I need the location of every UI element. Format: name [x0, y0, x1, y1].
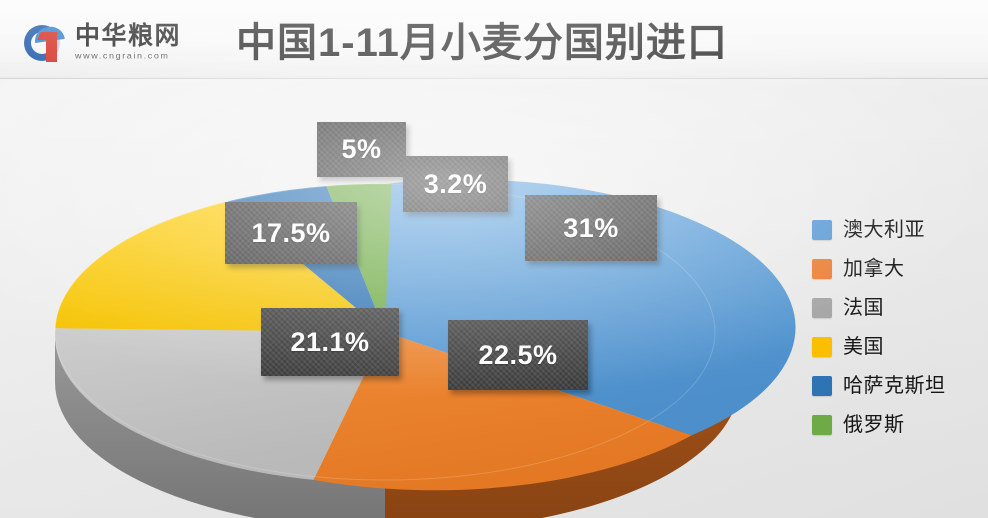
legend-label: 美国: [843, 335, 884, 359]
legend-label: 加拿大: [843, 257, 905, 281]
legend-label: 澳大利亚: [843, 218, 925, 242]
data-label-kazakhstan: 5%: [317, 122, 406, 177]
brand-name: 中华粮网: [75, 21, 181, 51]
data-label-france: 21.1%: [261, 308, 399, 376]
data-label-usa: 17.5%: [225, 202, 357, 264]
cngrain-logo-icon: [22, 22, 68, 64]
brand-logo: 中华粮网 www.cngrain.com: [22, 21, 197, 71]
legend-item-usa[interactable]: 美国: [812, 327, 982, 366]
header-divider: [0, 78, 988, 79]
legend-label: 法国: [843, 296, 884, 320]
legend-item-canada[interactable]: 加拿大: [812, 249, 982, 288]
legend-swatch-icon: [812, 337, 832, 357]
data-label-canada: 22.5%: [448, 320, 588, 390]
legend-swatch-icon: [812, 220, 832, 240]
data-label-australia: 31%: [525, 195, 657, 261]
page-title: 中国1-11月小麦分国别进口: [236, 16, 836, 70]
data-label-russia: 3.2%: [403, 156, 508, 212]
brand-text: 中华粮网 www.cngrain.com: [75, 21, 181, 62]
legend-item-australia[interactable]: 澳大利亚: [812, 210, 982, 249]
legend-swatch-icon: [812, 415, 832, 435]
slide-canvas: 中华粮网 www.cngrain.com 中国1-11月小麦分国别进口: [0, 0, 988, 518]
legend-swatch-icon: [812, 376, 832, 396]
legend-label: 俄罗斯: [843, 413, 905, 437]
brand-url: www.cngrain.com: [75, 50, 181, 61]
legend-item-france[interactable]: 法国: [812, 288, 982, 327]
legend-item-kazakhstan[interactable]: 哈萨克斯坦: [812, 366, 982, 405]
legend-item-russia[interactable]: 俄罗斯: [812, 405, 982, 444]
chart-legend: 澳大利亚 加拿大 法国 美国 哈萨克斯坦 俄罗斯: [812, 210, 982, 444]
pie-chart: 31% 22.5% 21.1% 17.5% 5% 3.2%: [20, 100, 780, 515]
legend-label: 哈萨克斯坦: [843, 374, 946, 398]
legend-swatch-icon: [812, 298, 832, 318]
legend-swatch-icon: [812, 259, 832, 279]
